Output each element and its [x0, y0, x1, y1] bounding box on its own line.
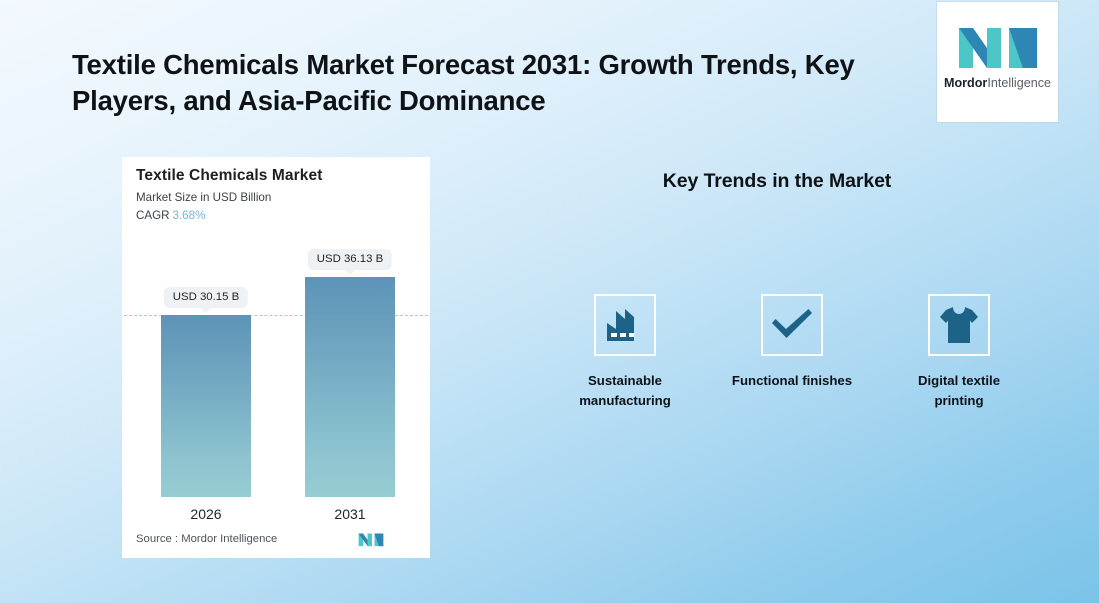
source-name: Mordor Intelligence — [181, 533, 277, 545]
trend-icon-box — [928, 294, 990, 356]
trend-item-functional-finishes[interactable]: Functional finishes — [717, 294, 867, 391]
trend-item-sustainable-manufacturing[interactable]: Sustainable manufacturing — [550, 294, 700, 411]
trend-item-digital-textile-printing[interactable]: Digital textile printing — [884, 294, 1034, 411]
trends-panel-title: Key Trends in the Market — [623, 170, 931, 193]
brand-name-bold: Mordor — [944, 76, 987, 90]
page-title: Textile Chemicals Market Forecast 2031: … — [72, 47, 882, 119]
source-text: Source : Mordor Intelligence — [136, 533, 277, 545]
trend-label-line1: Functional finishes — [732, 373, 852, 388]
bar-2026[interactable] — [161, 315, 251, 497]
trend-label-line1: Digital textile — [918, 373, 1000, 388]
bar-chart-plot: USD 30.15 B USD 36.13 B 2026 2031 — [122, 157, 430, 558]
trend-label-line2: manufacturing — [579, 393, 671, 408]
brand-name: MordorIntelligence — [937, 76, 1058, 90]
trend-icon-box — [594, 294, 656, 356]
x-axis-tick-2031: 2031 — [334, 506, 365, 522]
bar-value-label-2026: USD 30.15 B — [164, 287, 248, 308]
x-axis-tick-2026: 2026 — [190, 506, 221, 522]
slide-canvas: Textile Chemicals Market Forecast 2031: … — [0, 0, 1099, 603]
trend-label-line2: printing — [934, 393, 983, 408]
trend-label: Digital textile printing — [884, 371, 1034, 411]
mordor-m-mark-icon — [358, 532, 384, 547]
source-label: Source : — [136, 533, 178, 545]
trend-label: Functional finishes — [717, 371, 867, 391]
tshirt-icon — [939, 306, 979, 344]
trend-icon-box — [761, 294, 823, 356]
brand-logo-card: MordorIntelligence — [937, 2, 1058, 122]
chart-card: Textile Chemicals Market Market Size in … — [122, 157, 430, 558]
bar-2031[interactable] — [305, 277, 395, 497]
source-row: Source : Mordor Intelligence — [136, 532, 418, 550]
trend-label-line1: Sustainable — [588, 373, 662, 388]
mordor-m-mark-icon — [957, 24, 1039, 70]
factory-icon — [605, 308, 645, 342]
bar-value-label-2031: USD 36.13 B — [308, 249, 392, 270]
check-icon — [770, 308, 814, 342]
brand-name-light: Intelligence — [987, 76, 1051, 90]
trend-label: Sustainable manufacturing — [550, 371, 700, 411]
